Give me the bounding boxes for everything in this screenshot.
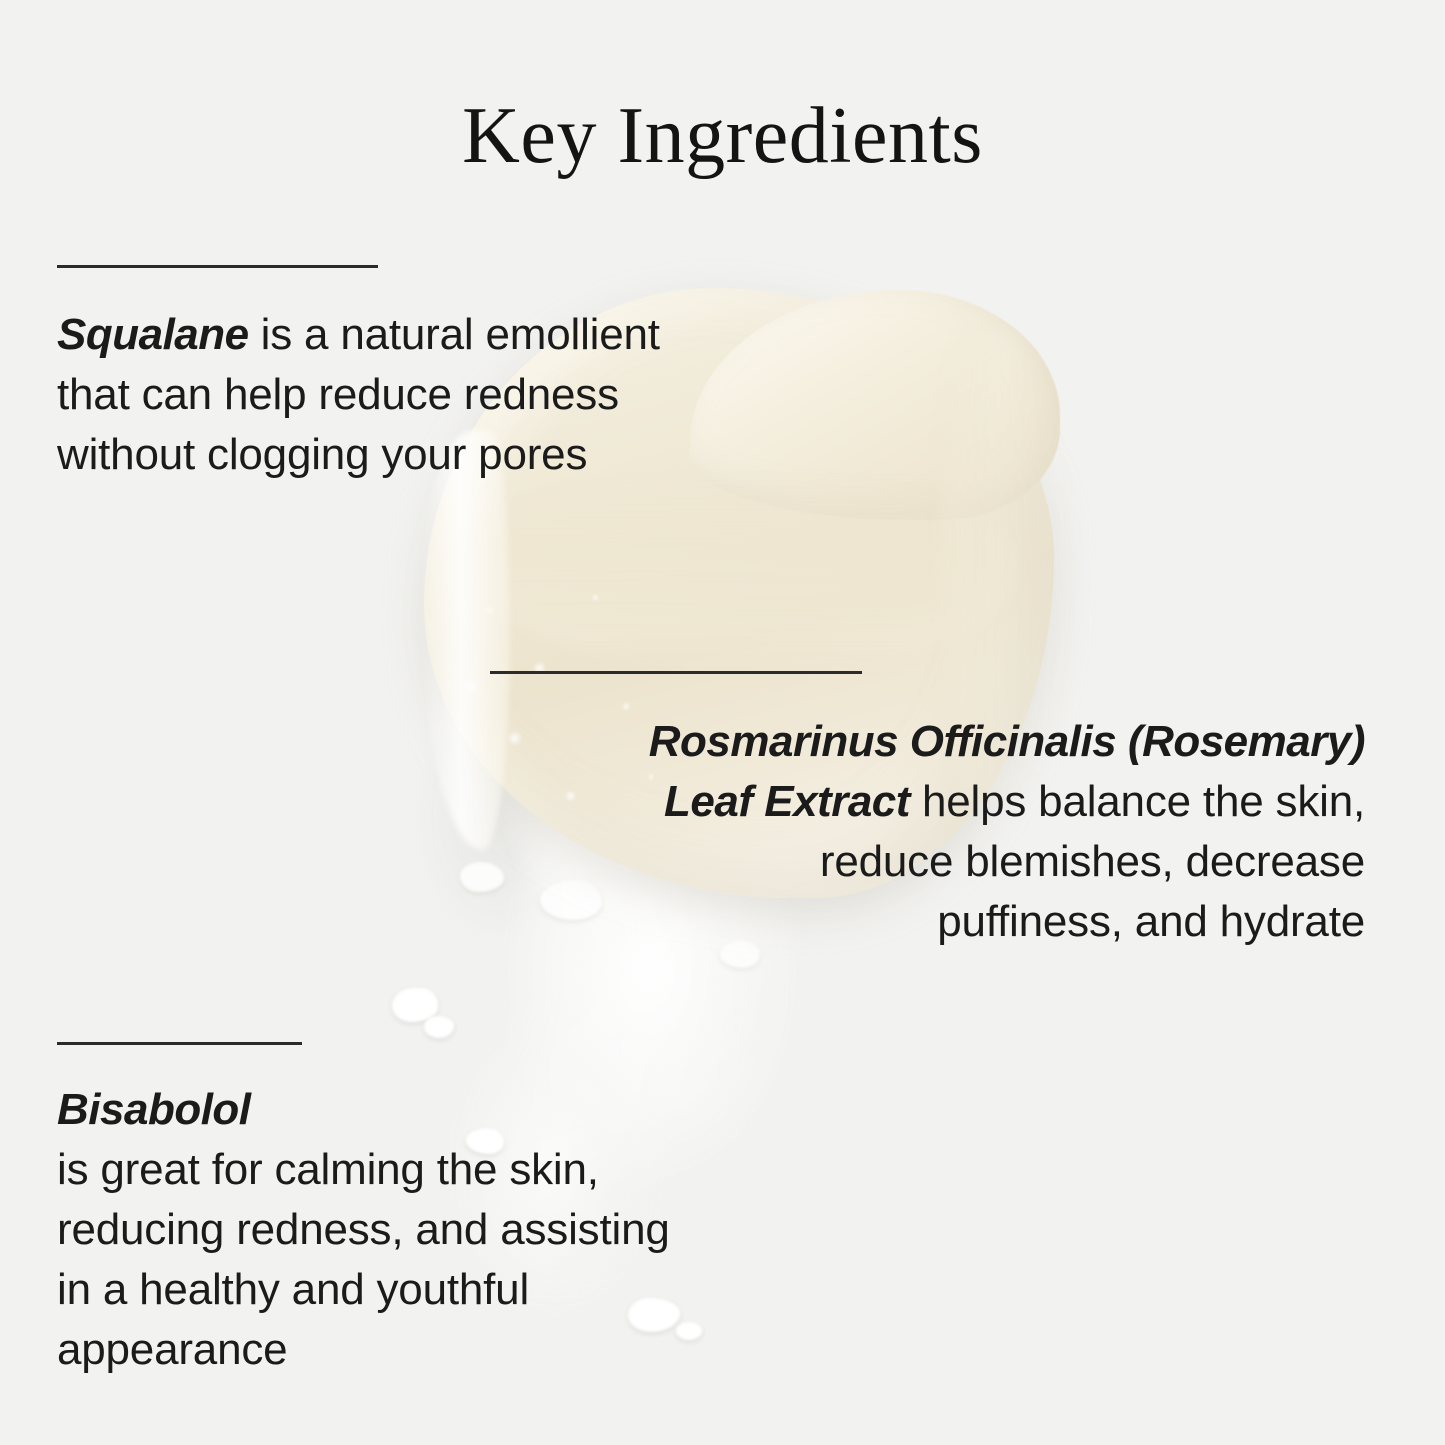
ingredients-infographic: Key Ingredients Squalane is a natural em… [0, 0, 1445, 1445]
divider-rosemary [490, 671, 862, 674]
divider-bisabolol [57, 1042, 302, 1045]
ingredient-name-bisabolol: Bisabolol [57, 1080, 917, 1140]
ingredient-line-bisabolol-4: appearance [57, 1320, 917, 1380]
ingredient-block-rosemary: Rosmarinus Officinalis (Rosemary) Leaf E… [380, 712, 1365, 952]
ingredient-block-bisabolol: Bisabolol is great for calming the skin,… [57, 1080, 917, 1380]
divider-squalane [57, 265, 378, 268]
ingredient-desc-squalane: is a natural emollient [249, 310, 660, 359]
ingredient-line-rosemary-2: puffiness, and hydrate [380, 892, 1365, 952]
ingredient-name-rosemary: Rosmarinus Officinalis (Rosemary) [380, 712, 1365, 772]
ingredient-desc-rosemary: helps balance the skin, [910, 777, 1365, 826]
ingredient-line-rosemary-1: reduce blemishes, decrease [380, 832, 1365, 892]
ingredient-line-bisabolol-1: is great for calming the skin, [57, 1140, 917, 1200]
ingredient-line-squalane-1: that can help reduce redness [57, 365, 857, 425]
content-layer: Key Ingredients Squalane is a natural em… [0, 0, 1445, 1445]
ingredient-line-bisabolol-3: in a healthy and youthful [57, 1260, 917, 1320]
ingredient-name-squalane: Squalane [57, 310, 249, 359]
ingredient-name-rosemary-line2: Leaf Extract [664, 777, 910, 826]
ingredient-block-squalane: Squalane is a natural emollient that can… [57, 305, 857, 485]
ingredient-line-squalane-2: without clogging your pores [57, 425, 857, 485]
page-title: Key Ingredients [0, 96, 1445, 176]
ingredient-line-bisabolol-2: reducing redness, and assisting [57, 1200, 917, 1260]
